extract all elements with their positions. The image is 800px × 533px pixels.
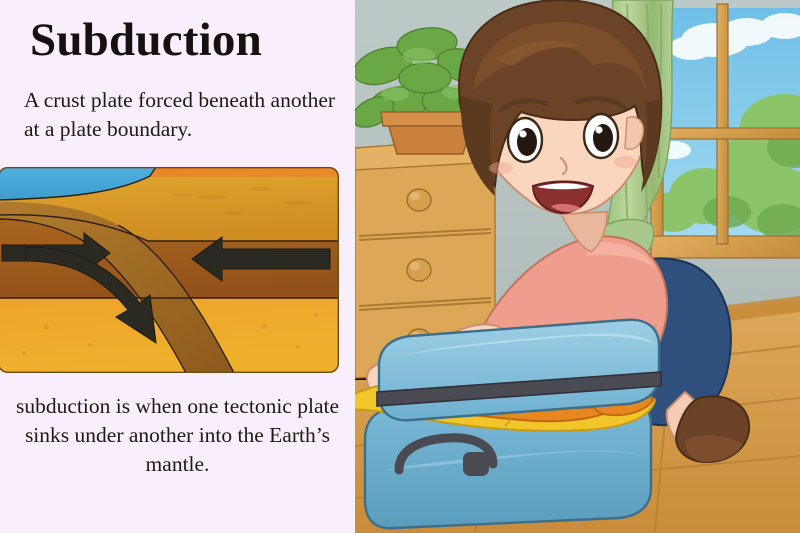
text-panel: Subduction A crust plate forced beneath … (0, 0, 355, 533)
vocabulary-card: Subduction A crust plate forced beneath … (0, 0, 800, 533)
suitcase (355, 320, 661, 529)
page-title: Subduction (30, 14, 262, 67)
illustration-panel (355, 0, 800, 533)
definition-text: A crust plate forced beneath another at … (24, 86, 344, 143)
summary-text: subduction is when one tectonic plate si… (0, 392, 355, 479)
subduction-diagram (0, 167, 339, 373)
